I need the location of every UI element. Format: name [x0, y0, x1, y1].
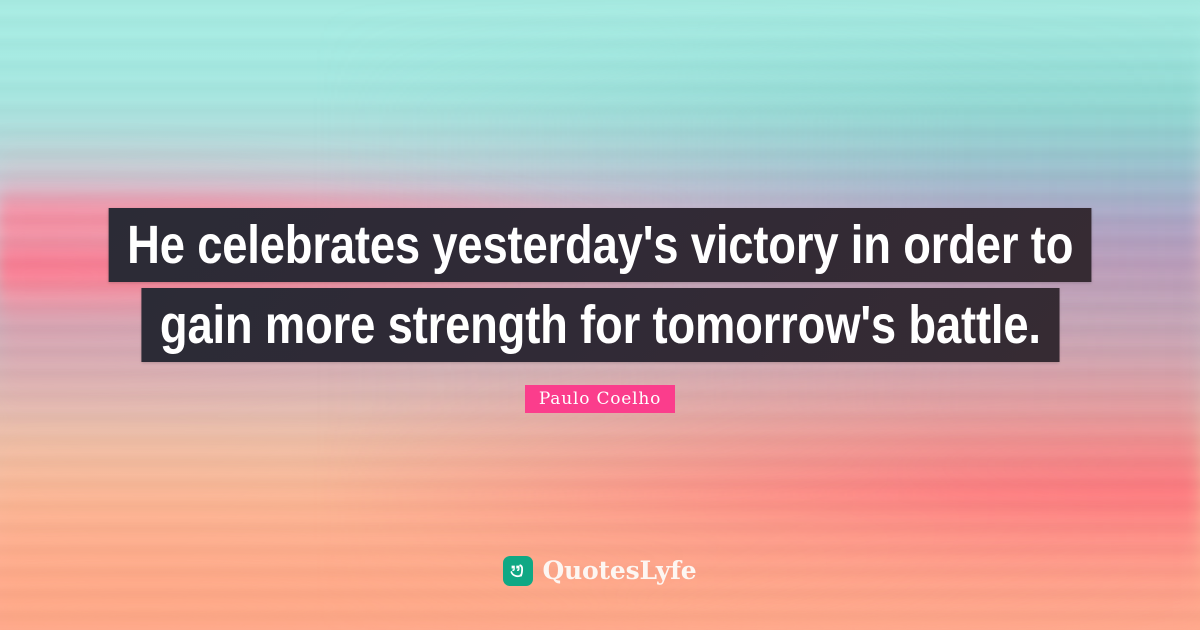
quote-smiley-icon: [503, 556, 533, 586]
card-content: He celebrates yesterday's victory in ord…: [0, 0, 1200, 630]
quote-line-1: He celebrates yesterday's victory in ord…: [108, 208, 1091, 282]
author-name: Paulo Coelho: [525, 385, 675, 413]
author-block: Paulo Coelho: [0, 385, 1200, 413]
brand-logo[interactable]: QuotesLyfe: [0, 556, 1200, 586]
quote-line-2: gain more strength for tomorrow's battle…: [141, 288, 1059, 362]
brand-name: QuotesLyfe: [542, 556, 696, 586]
quote-card: He celebrates yesterday's victory in ord…: [0, 0, 1200, 630]
quote-text-block: He celebrates yesterday's victory in ord…: [0, 208, 1200, 362]
